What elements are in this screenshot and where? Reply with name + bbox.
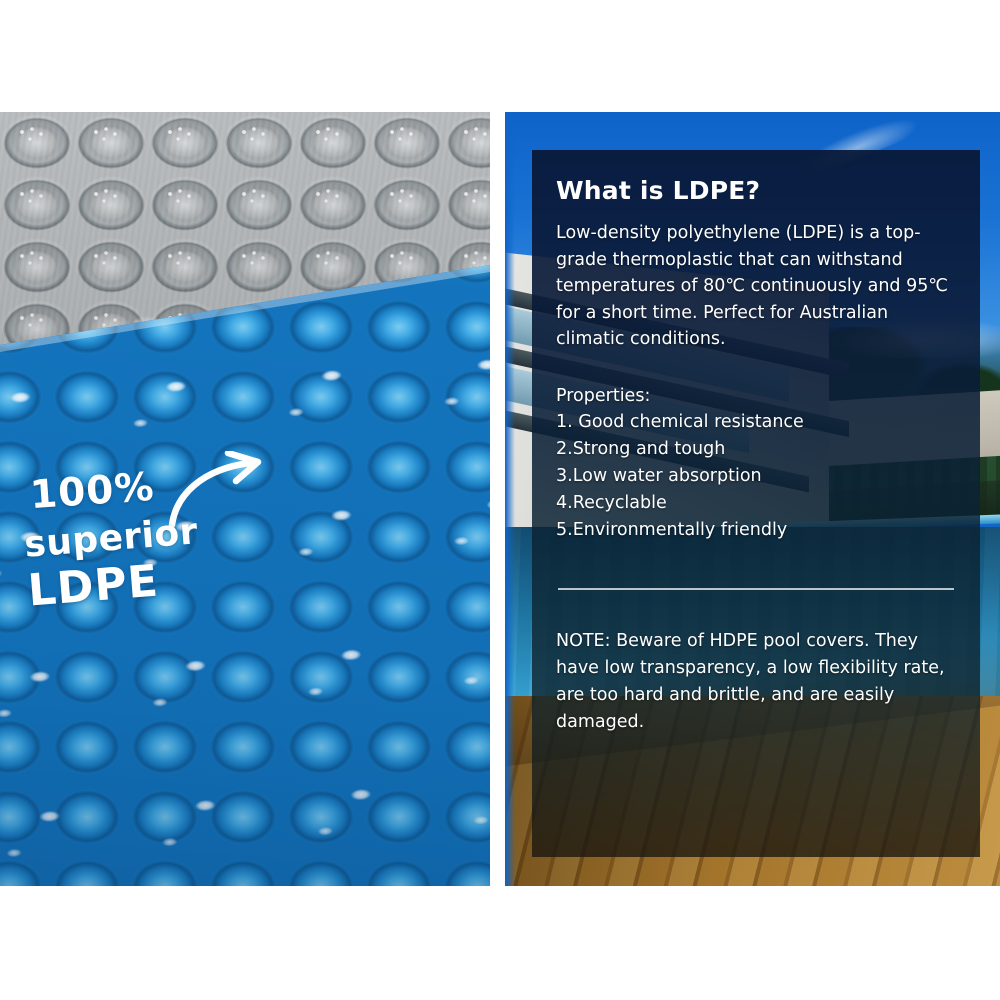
properties-list: 1. Good chemical resistance 2.Strong and…	[556, 409, 956, 544]
list-item: 4.Recyclable	[556, 490, 956, 517]
list-item: 3.Low water absorption	[556, 463, 956, 490]
card-note: NOTE: Beware of HDPE pool covers. They h…	[556, 628, 956, 737]
card-title: What is LDPE?	[556, 176, 956, 206]
properties-heading: Properties:	[556, 383, 956, 409]
ldpe-info-card: What is LDPE? Low-density polyethylene (…	[532, 150, 980, 857]
right-info-panel: What is LDPE? Low-density polyethylene (…	[505, 112, 1000, 886]
list-item: 5.Environmentally friendly	[556, 517, 956, 544]
infographic-canvas: 100% superior LDPE	[0, 0, 1000, 1000]
card-divider	[558, 588, 954, 590]
scene-left-edge-fade	[505, 112, 515, 886]
list-item: 2.Strong and tough	[556, 436, 956, 463]
card-paragraph: Low-density polyethylene (LDPE) is a top…	[556, 220, 956, 353]
left-product-photo-panel: 100% superior LDPE	[0, 112, 490, 886]
list-item: 1. Good chemical resistance	[556, 409, 956, 436]
